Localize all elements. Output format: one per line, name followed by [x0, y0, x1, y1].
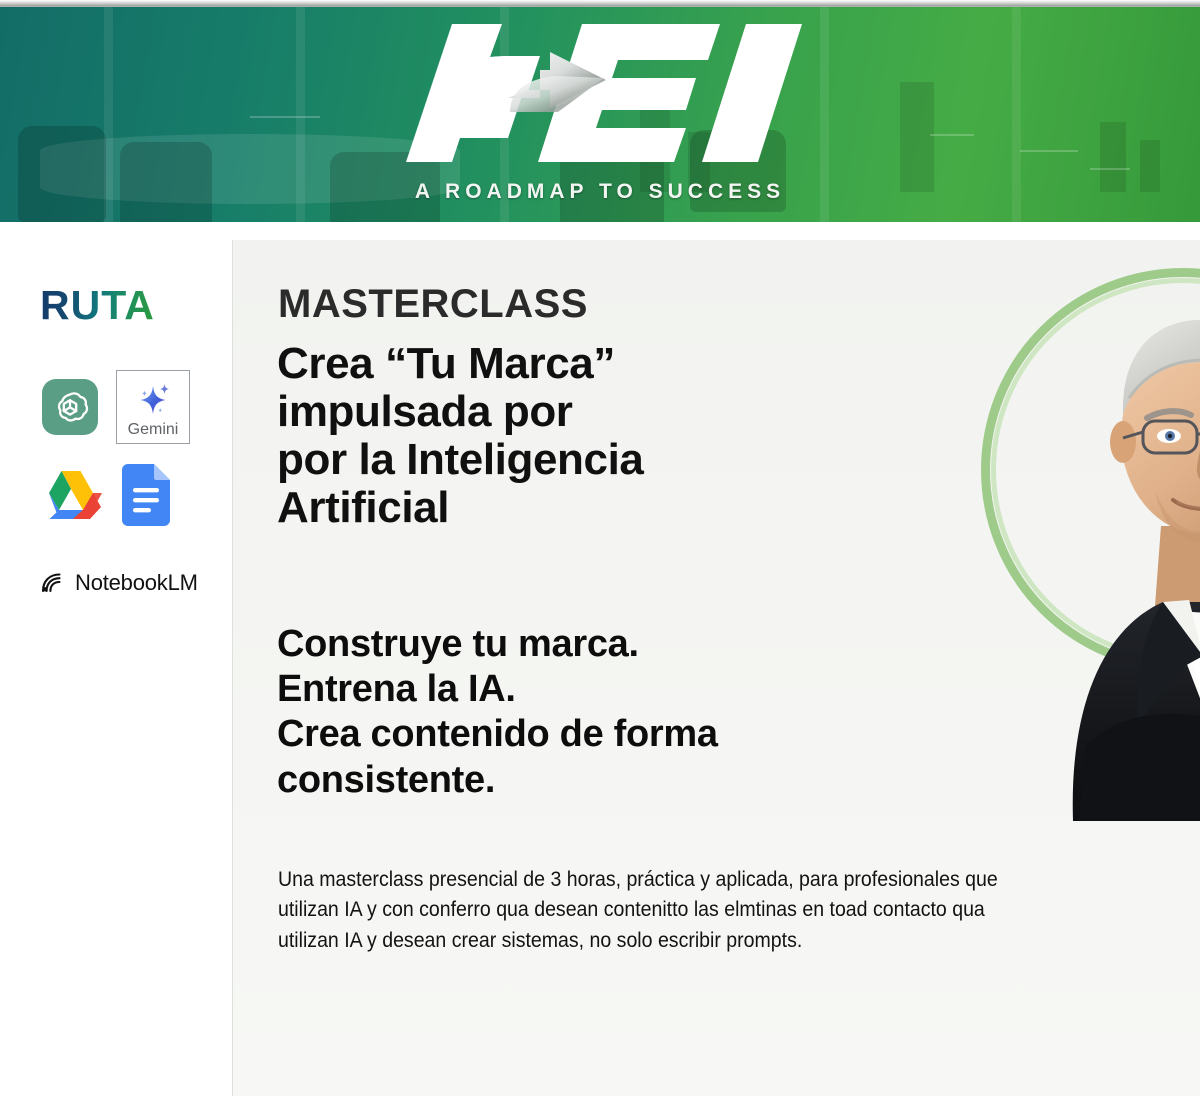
skyline-building: [900, 82, 934, 192]
subheadline-line: Crea contenido de forma: [277, 712, 807, 757]
notebooklm-icon: [40, 571, 66, 595]
gemini-label: Gemini: [128, 422, 179, 438]
subheadline-line: Construye tu marca.: [277, 622, 807, 667]
google-drive-icon[interactable]: [40, 467, 102, 523]
city-light: [1020, 150, 1078, 152]
headline-line: impulsada por: [277, 388, 777, 436]
city-light: [930, 134, 974, 136]
headline-line: por la Inteligencia: [277, 436, 777, 484]
ruta-wordmark: RUTA: [40, 282, 155, 329]
subheadline-line: Entrena la IA.: [277, 667, 807, 712]
google-docs-icon[interactable]: [120, 462, 172, 528]
subheadline-line: consistente.: [277, 758, 807, 803]
body-copy: Una masterclass presencial de 3 horas, p…: [278, 865, 1050, 956]
city-light: [250, 116, 320, 118]
masterclass-flyer: A ROADMAP TO SUCCESS RUTA: [0, 0, 1200, 1096]
tool-row-notebooklm: NotebookLM: [40, 570, 198, 596]
page-eyebrow: MASTERCLASS: [278, 282, 588, 327]
office-chair: [560, 134, 664, 222]
notebooklm-label: NotebookLM: [75, 570, 198, 596]
notebooklm-item[interactable]: NotebookLM: [40, 570, 198, 596]
page-title: Crea “Tu Marca” impulsada por por la Int…: [277, 340, 777, 532]
headline-line: Artificial: [277, 484, 777, 532]
header-banner: A ROADMAP TO SUCCESS: [0, 0, 1200, 240]
chatgpt-icon[interactable]: [42, 379, 98, 435]
gemini-icon[interactable]: Gemini: [116, 370, 190, 444]
content-area: RUTA: [0, 240, 1200, 1096]
tool-row-ai-assistants: Gemini: [42, 370, 190, 444]
main-content: MASTERCLASS Crea “Tu Marca” impulsada po…: [233, 240, 1200, 1096]
tool-row-google-workspace: [40, 462, 172, 528]
headline-line: Crea “Tu Marca”: [277, 340, 777, 388]
tools-sidebar: RUTA: [0, 240, 232, 1096]
office-chair: [18, 126, 106, 222]
speaker-portrait: [973, 264, 1200, 824]
page-subtitle: Construye tu marca. Entrena la IA. Crea …: [277, 622, 807, 803]
brand-tagline: A ROADMAP TO SUCCESS: [0, 180, 1200, 204]
city-light: [1090, 168, 1130, 170]
